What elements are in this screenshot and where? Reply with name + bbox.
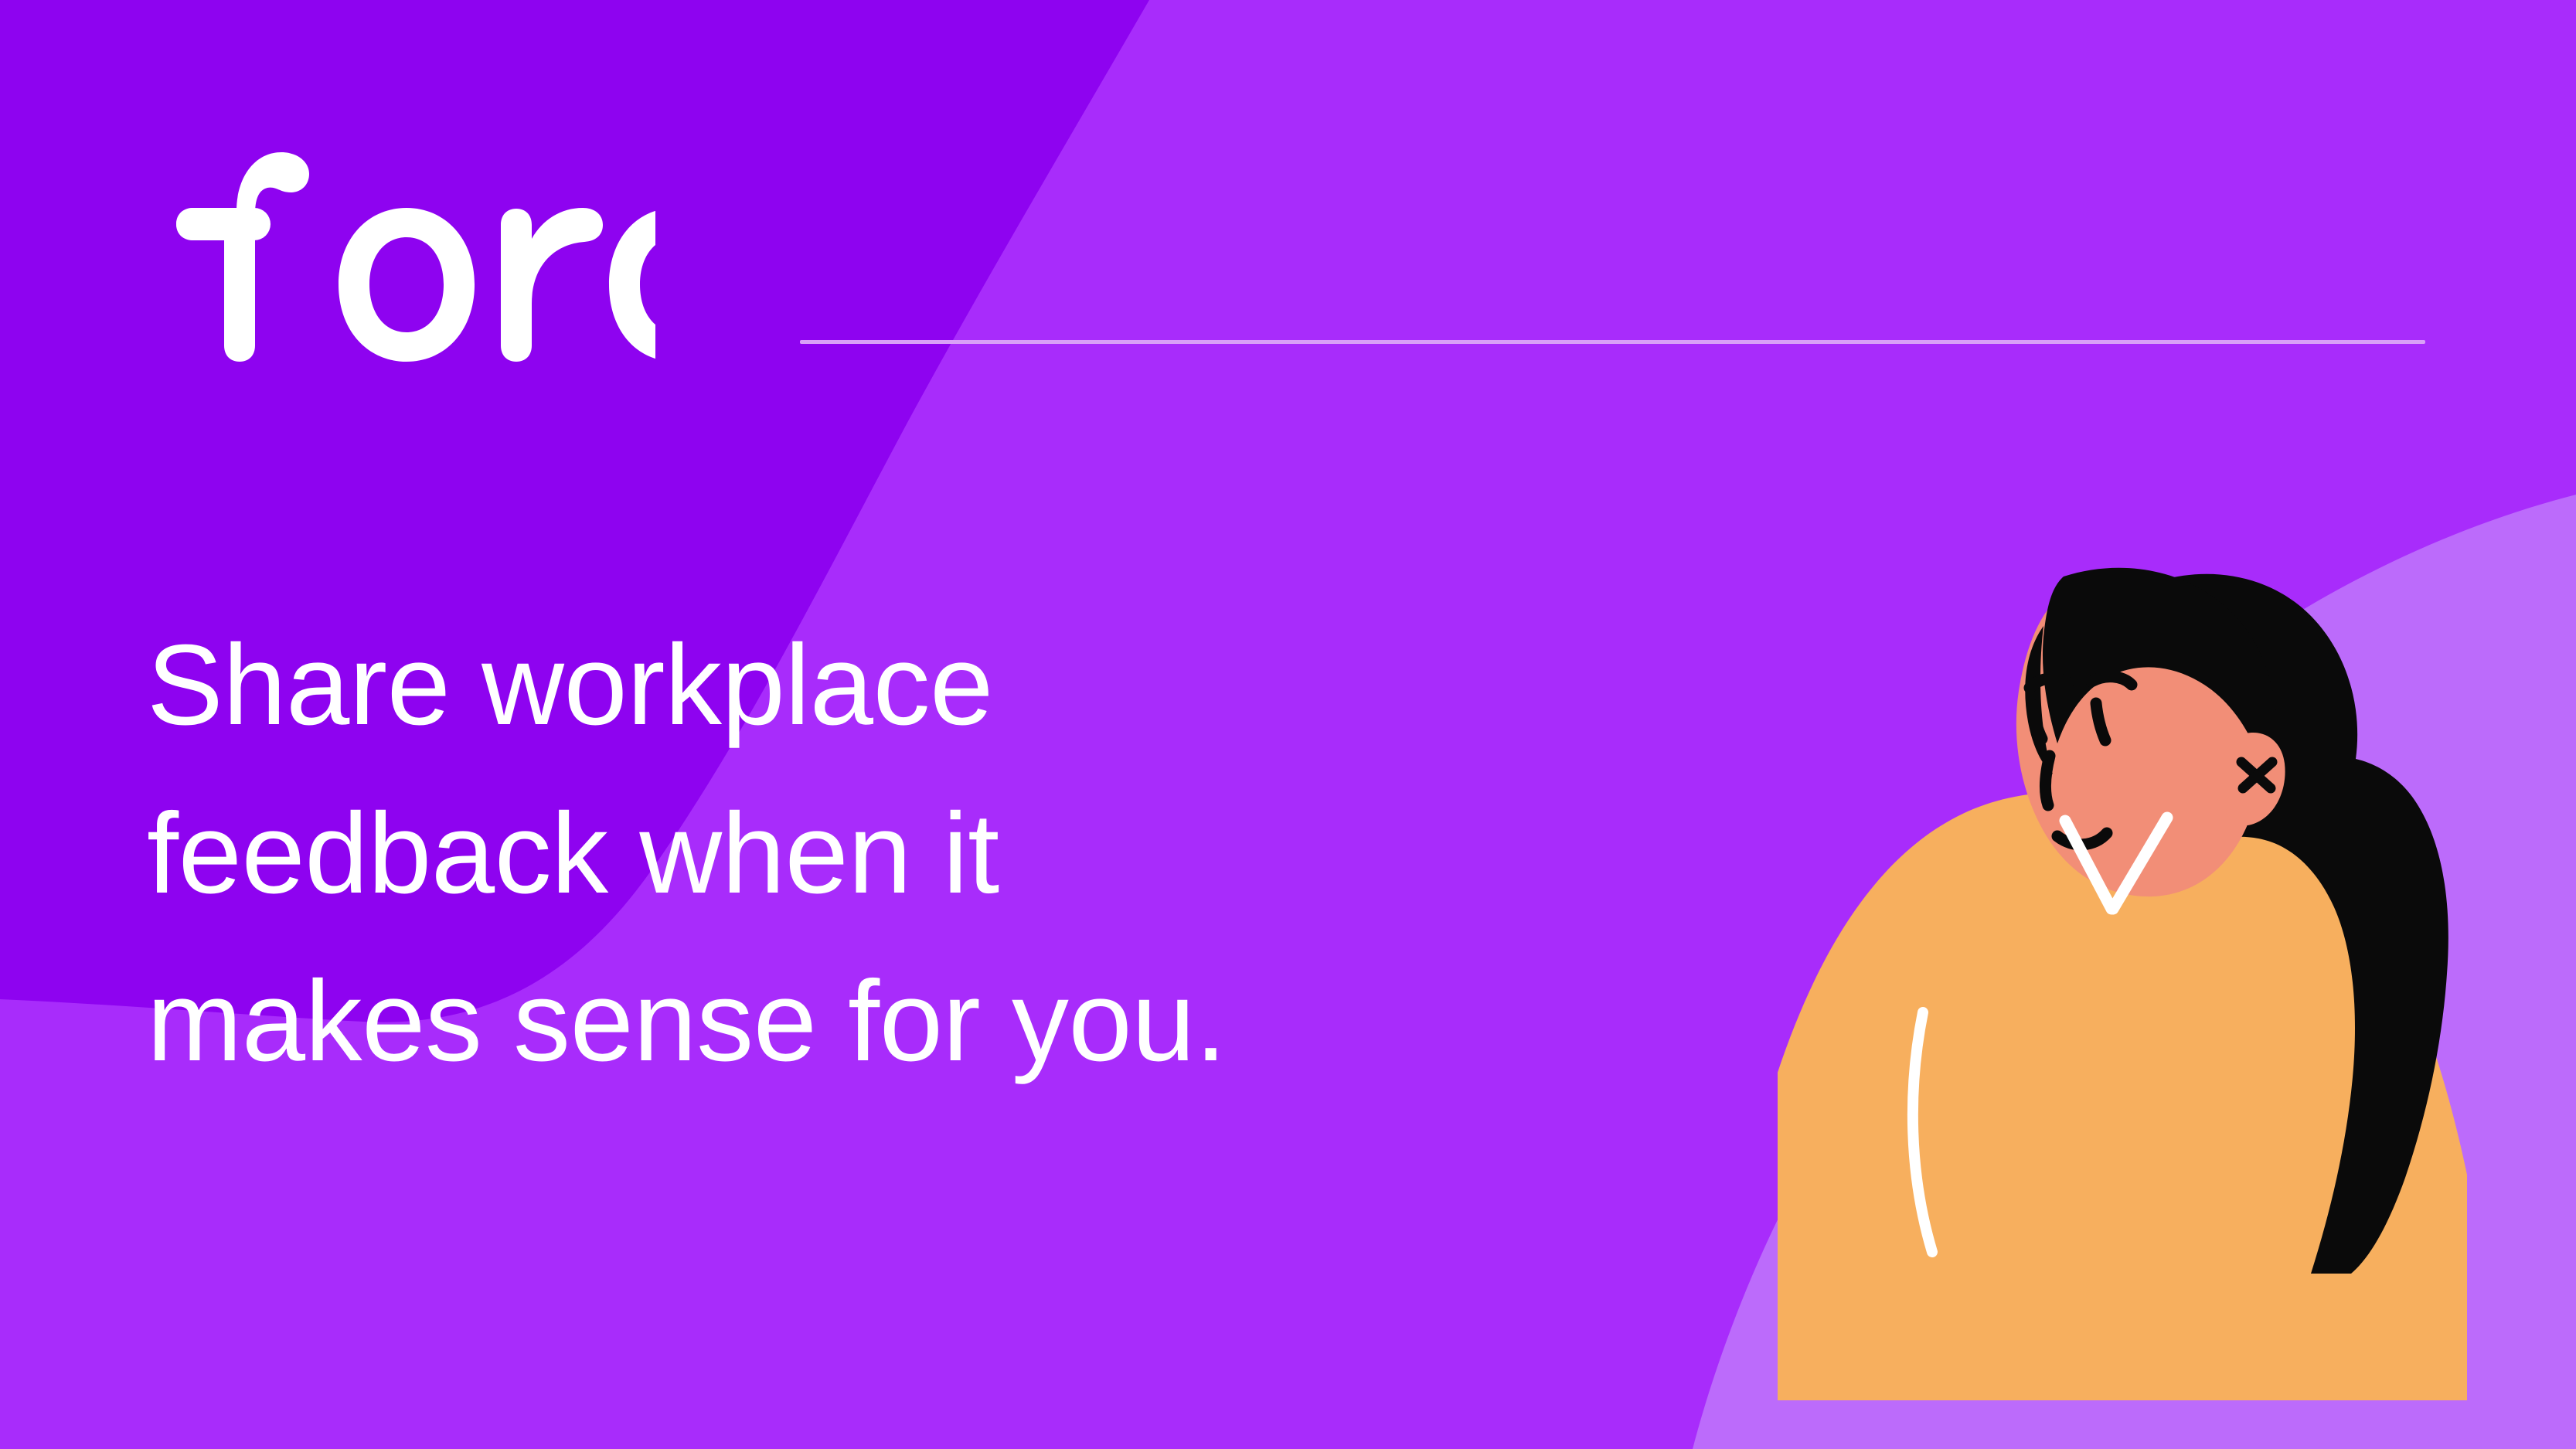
brand-logo[interactable] [145, 143, 655, 367]
page-title: Share workplace feedback when it makes s… [147, 601, 1693, 1106]
header-divider [800, 340, 2425, 344]
woman-portrait-illustration [1778, 533, 2576, 1449]
promo-banner: Share workplace feedback when it makes s… [0, 0, 2576, 1449]
nose [2045, 756, 2050, 805]
fordi-wordmark-icon [145, 143, 655, 367]
